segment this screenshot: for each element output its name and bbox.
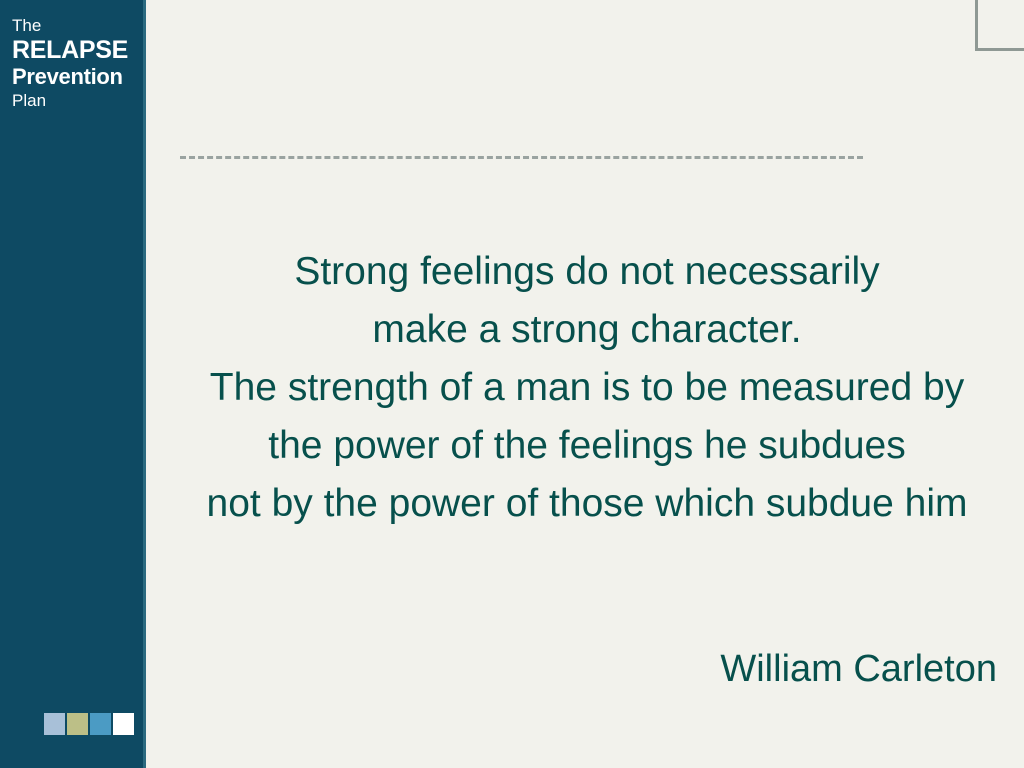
attribution-author-name: William Carleton (720, 648, 997, 690)
sidebar-edge-highlight (143, 0, 146, 768)
quote-line: The strength of a man is to be measured … (150, 359, 1024, 417)
logo-line-plan: Plan (12, 90, 140, 112)
dashed-divider (180, 156, 863, 159)
chip-blue (90, 713, 111, 735)
brand-logo: The RELAPSE Prevention Plan (12, 16, 140, 112)
quote-text: Strong feelings do not necessarily make … (150, 243, 1024, 533)
color-chip-row (44, 713, 134, 735)
brand-sidebar: The RELAPSE Prevention Plan (0, 0, 146, 768)
corner-bracket-decoration (975, 0, 1024, 51)
quote-attribution: William Carleton (150, 646, 1024, 692)
chip-white (113, 713, 134, 735)
chip-light-blue (44, 713, 65, 735)
logo-line-relapse: RELAPSE (12, 36, 140, 64)
quote-line: the power of the feelings he subdues (150, 417, 1024, 475)
quote-line: make a strong character. (150, 301, 1024, 359)
quote-line: not by the power of those which subdue h… (150, 475, 1024, 533)
slide-canvas: The RELAPSE Prevention Plan Strong feeli… (0, 0, 1024, 768)
logo-line-the: The (12, 16, 140, 36)
logo-line-prevention: Prevention (12, 64, 140, 90)
quote-line: Strong feelings do not necessarily (150, 243, 1024, 301)
chip-olive (67, 713, 88, 735)
